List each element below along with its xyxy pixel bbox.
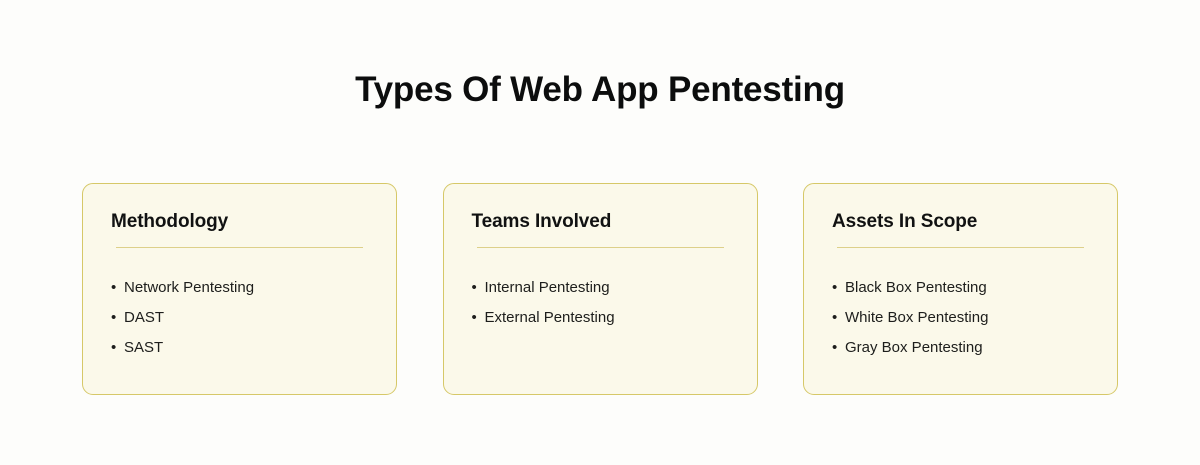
list-item: • Black Box Pentesting bbox=[832, 273, 1089, 303]
list-item-label: White Box Pentesting bbox=[845, 309, 988, 326]
bullet-icon: • bbox=[832, 333, 837, 363]
bullet-icon: • bbox=[472, 273, 477, 303]
card-heading: Methodology bbox=[111, 210, 368, 234]
card-list: • Black Box Pentesting • White Box Pente… bbox=[832, 256, 1089, 363]
list-item: • Gray Box Pentesting bbox=[832, 333, 1089, 363]
list-item-label: SAST bbox=[124, 339, 163, 356]
card-methodology: Methodology • Network Pentesting • DAST … bbox=[82, 183, 397, 395]
list-item-label: Network Pentesting bbox=[124, 279, 254, 296]
card-teams-involved: Teams Involved • Internal Pentesting • E… bbox=[443, 183, 758, 395]
bullet-icon: • bbox=[832, 273, 837, 303]
bullet-icon: • bbox=[111, 273, 116, 303]
card-divider bbox=[477, 247, 724, 248]
page-title: Types Of Web App Pentesting bbox=[0, 68, 1200, 112]
card-group: Methodology • Network Pentesting • DAST … bbox=[82, 183, 1118, 395]
list-item: • White Box Pentesting bbox=[832, 303, 1089, 333]
card-divider bbox=[837, 247, 1084, 248]
bullet-icon: • bbox=[832, 303, 837, 333]
list-item-label: DAST bbox=[124, 309, 164, 326]
list-item: • SAST bbox=[111, 333, 368, 363]
list-item: • DAST bbox=[111, 303, 368, 333]
list-item: • Internal Pentesting bbox=[472, 273, 729, 303]
card-divider bbox=[116, 247, 363, 248]
card-list: • Internal Pentesting • External Pentest… bbox=[472, 256, 729, 333]
list-item-label: Gray Box Pentesting bbox=[845, 339, 983, 356]
bullet-icon: • bbox=[472, 303, 477, 333]
card-assets-in-scope: Assets In Scope • Black Box Pentesting •… bbox=[803, 183, 1118, 395]
bullet-icon: • bbox=[111, 303, 116, 333]
list-item-label: Black Box Pentesting bbox=[845, 279, 987, 296]
card-heading: Teams Involved bbox=[472, 210, 729, 234]
card-list: • Network Pentesting • DAST • SAST bbox=[111, 256, 368, 363]
list-item: • External Pentesting bbox=[472, 303, 729, 333]
list-item-label: Internal Pentesting bbox=[485, 279, 610, 296]
bullet-icon: • bbox=[111, 333, 116, 363]
infographic-page: Types Of Web App Pentesting Methodology … bbox=[0, 0, 1200, 465]
card-heading: Assets In Scope bbox=[832, 210, 1089, 234]
list-item-label: External Pentesting bbox=[485, 309, 615, 326]
list-item: • Network Pentesting bbox=[111, 273, 368, 303]
